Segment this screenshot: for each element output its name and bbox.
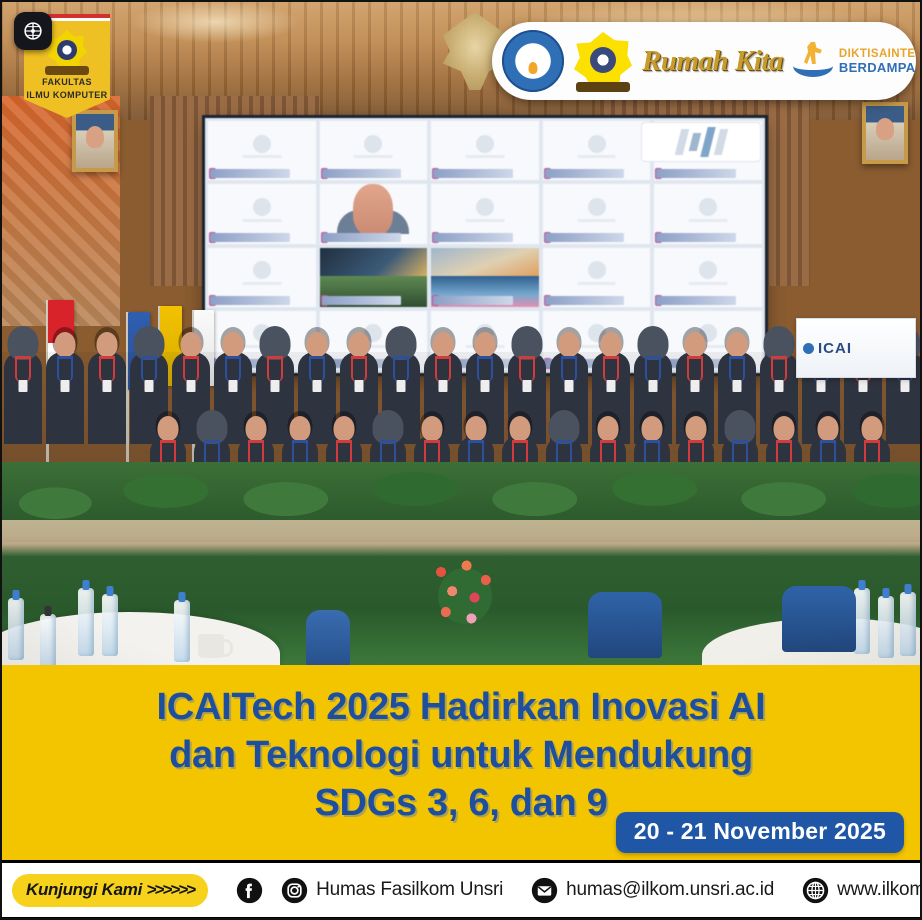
flower-arrangement (425, 556, 505, 636)
conference-logo (641, 122, 761, 162)
diktisaintek-label-bottom: BERDAMPAK (839, 61, 916, 74)
contact-bar: Kunjungi Kami >>>>>> Humas Fasilkom Unsr… (0, 860, 922, 920)
universitas-sriwijaya-logo-icon (574, 32, 632, 90)
event-date-badge: 20 - 21 November 2025 (616, 812, 904, 853)
contact-website-text: www.ilkom.unsri.ac.id (837, 879, 922, 901)
water-bottle (174, 600, 190, 662)
zoom-participant-tile (542, 120, 652, 181)
water-bottle (40, 614, 56, 668)
zoom-participant-tile (319, 183, 429, 244)
contact-website[interactable]: www.ilkom.unsri.ac.id (802, 877, 922, 904)
zoom-participant-tile (542, 183, 652, 244)
instagram-icon (281, 877, 308, 904)
stage-floor (0, 520, 922, 542)
chair (306, 610, 350, 668)
facebook-icon (236, 877, 263, 904)
water-bottle (78, 588, 94, 656)
icai-banner: ICAI (796, 318, 916, 378)
water-bottle (900, 592, 916, 656)
unsri-seal-icon (47, 30, 87, 70)
zoom-participant-tile (207, 183, 317, 244)
diktisaintek-berdampak-logo: DIKTISAINTEK BERDAMPAK (793, 41, 916, 81)
seal-ribbon (45, 66, 89, 75)
banner-dot-icon (803, 343, 814, 354)
contact-email[interactable]: humas@ilkom.unsri.ac.id (531, 877, 774, 904)
faculty-line-1: FAKULTAS (24, 76, 110, 89)
zoom-participant-tile (430, 120, 540, 181)
water-bottle (878, 596, 894, 658)
title-band: ICAITech 2025 Hadirkan Inovasi AI dan Te… (0, 665, 922, 860)
visit-us-pill[interactable]: Kunjungi Kami >>>>>> (12, 874, 208, 907)
diktisaintek-mark-icon (793, 41, 833, 81)
partner-logo-bar: Rumah Kita DIKTISAINTEK BERDAMPAK (492, 22, 916, 100)
zoom-participant-tile (430, 247, 540, 308)
visit-us-label: Kunjungi Kami (26, 880, 142, 899)
email-icon (531, 877, 558, 904)
water-bottle (854, 588, 870, 654)
contact-instagram-text: Humas Fasilkom Unsri (316, 879, 503, 901)
audience-person (88, 352, 126, 444)
faculty-line-2: ILMU KOMPUTER (24, 89, 110, 102)
tut-wuri-handayani-logo-icon (502, 30, 564, 92)
zoom-participant-tile (207, 247, 317, 308)
zoom-participant-tile (542, 247, 652, 308)
water-bottle (8, 598, 24, 660)
coffee-mug (198, 634, 224, 658)
portrait-right (862, 102, 908, 164)
ai-brain-icon[interactable] (14, 12, 52, 50)
audience-person (4, 352, 42, 444)
chair (782, 586, 856, 652)
water-bottle (102, 594, 118, 656)
contact-instagram[interactable]: Humas Fasilkom Unsri (281, 877, 503, 904)
poster-root: ICAI FAKULTAS ILMU KOMPUTER Rumah Ki (0, 0, 922, 920)
poster-title: ICAITech 2025 Hadirkan Inovasi AI dan Te… (0, 665, 922, 827)
contact-facebook[interactable] (236, 877, 271, 904)
zoom-participant-tile (319, 247, 429, 308)
chair (588, 592, 662, 658)
icai-banner-label: ICAI (818, 340, 852, 357)
globe-icon (802, 877, 829, 904)
visit-us-arrows: >>>>>> (146, 880, 194, 899)
contact-email-text: humas@ilkom.unsri.ac.id (566, 879, 774, 901)
rumah-kita-logo-text: Rumah Kita (642, 45, 783, 78)
zoom-participant-tile (653, 247, 763, 308)
faculty-flag-text: FAKULTAS ILMU KOMPUTER (24, 76, 110, 102)
audience-person (46, 352, 84, 444)
zoom-participant-tile (319, 120, 429, 181)
zoom-participant-tile (207, 120, 317, 181)
portrait-left (72, 110, 118, 172)
zoom-participant-tile (430, 183, 540, 244)
title-line-2: dan Teknologi untuk Mendukung (0, 731, 922, 779)
title-line-1: ICAITech 2025 Hadirkan Inovasi AI (0, 683, 922, 731)
event-photo: ICAI (0, 0, 922, 668)
zoom-participant-tile (653, 183, 763, 244)
